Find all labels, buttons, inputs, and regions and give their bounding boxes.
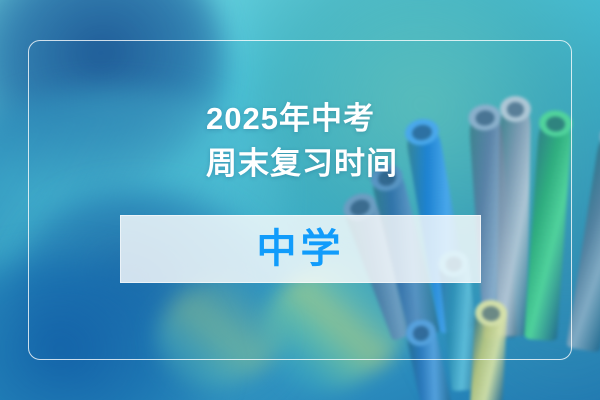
banner-headline: 2025年中考 周末复习时间 bbox=[206, 96, 506, 186]
category-plate: 中学 bbox=[120, 215, 481, 283]
promo-banner: 2025年中考 周末复习时间 中学 bbox=[0, 0, 600, 400]
tube-green bbox=[524, 109, 573, 341]
tube-right-edge bbox=[566, 122, 600, 353]
tube-body bbox=[524, 109, 573, 341]
headline-line-1: 2025年中考 bbox=[206, 96, 506, 141]
tube-bottom-yellow bbox=[470, 299, 508, 400]
category-label: 中学 bbox=[257, 229, 345, 269]
background-plastic-tubes bbox=[0, 0, 600, 400]
tube-body bbox=[566, 122, 600, 353]
headline-line-2: 周末复习时间 bbox=[206, 141, 506, 186]
